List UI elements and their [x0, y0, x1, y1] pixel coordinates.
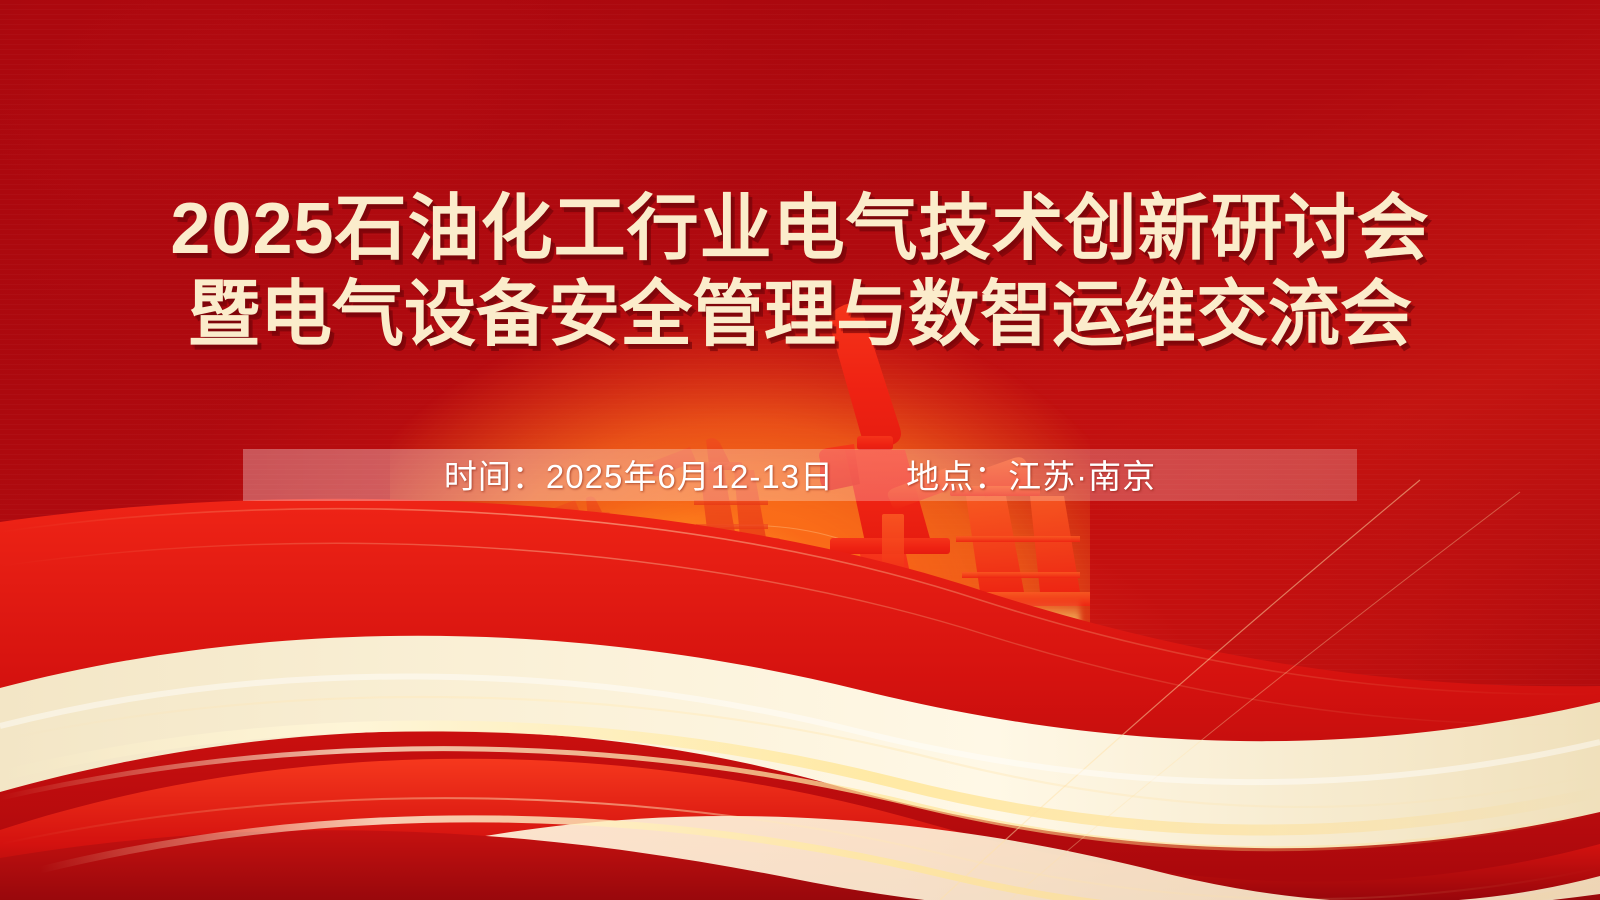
event-location: 地点：江苏·南京: [906, 450, 1156, 498]
title-line-2: 暨电气设备安全管理与数智运维交流会: [0, 272, 1600, 358]
conference-title: 2025石油化工行业电气技术创新研讨会 暨电气设备安全管理与数智运维交流会: [0, 186, 1600, 358]
ribbon-waves: [0, 440, 1600, 900]
title-line-1: 2025石油化工行业电气技术创新研讨会: [0, 186, 1600, 272]
event-date: 时间：2025年6月12-13日: [444, 450, 834, 498]
event-info-bar: 时间：2025年6月12-13日 地点：江苏·南京: [243, 449, 1357, 501]
conference-banner: 2025石油化工行业电气技术创新研讨会 暨电气设备安全管理与数智运维交流会 时间…: [0, 0, 1600, 900]
